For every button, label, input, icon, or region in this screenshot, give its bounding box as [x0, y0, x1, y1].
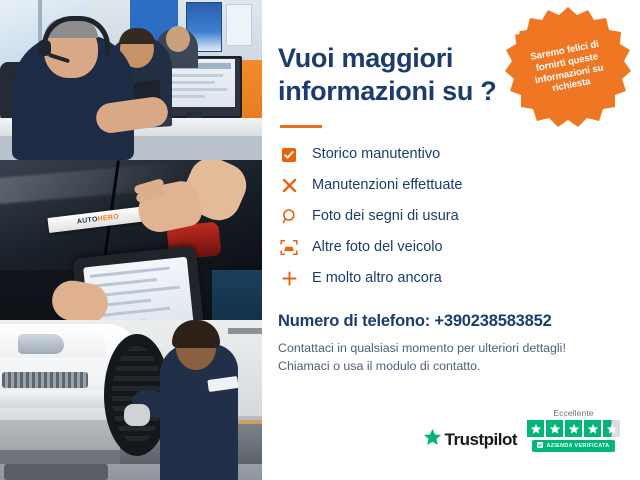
list-item-storico-manutentivo: Storico manutentivo — [278, 144, 616, 166]
trustpilot-rating-block: Eccellente AZIENDA VERIFICATA — [527, 408, 620, 452]
background-colleague-2-head — [166, 26, 190, 52]
info-banner: AUTOHERO — [0, 0, 640, 480]
page-title: Vuoi maggiori informazioni su ? — [278, 42, 518, 108]
list-item-label: Foto dei segni di usura — [312, 209, 459, 225]
list-item-molto-altro-ancora: E molto altro ancora — [278, 268, 616, 290]
car-frame-icon — [278, 237, 300, 259]
workshop-photo — [0, 320, 262, 480]
vehicle-lift-arm — [0, 450, 120, 464]
star-filled — [565, 420, 582, 437]
tablet-row — [90, 267, 170, 278]
contact-note-line-2: Chiamaci o usa il modulo di contatto. — [278, 359, 481, 373]
list-item-label: Altre foto del veicolo — [312, 240, 443, 256]
tablet-row — [91, 278, 157, 288]
phone-line: Numero di telefono: +390238583852 — [278, 312, 616, 331]
car-headlight — [18, 334, 64, 354]
star-filled — [527, 420, 544, 437]
contact-note: Contattaci in qualsiasi momento per ulte… — [278, 340, 616, 376]
contact-note-line-1: Contattaci in qualsiasi momento per ulte… — [278, 341, 566, 355]
status-badge: AZIENDA VERIFICATA — [532, 440, 614, 452]
mechanic-glove — [124, 404, 150, 426]
trustpilot-stars — [527, 420, 620, 437]
list-item-label: Storico manutentivo — [312, 147, 440, 163]
star-filled — [584, 420, 601, 437]
list-item-foto-segni-usura: Foto dei segni di usura — [278, 206, 616, 228]
ruler-brand-hero: HERO — [97, 213, 119, 223]
list-item-altre-foto-veicolo: Altre foto del veicolo — [278, 237, 616, 259]
star-half — [603, 420, 620, 437]
request-info-badge: Saremo felici di fornirti queste informa… — [505, 5, 631, 131]
tools-wrench-icon — [278, 175, 300, 197]
ruler-brand-auto: AUTO — [77, 216, 99, 225]
wall-notice — [226, 4, 252, 46]
phone-number[interactable]: +390238583852 — [434, 312, 551, 330]
vehicle-lift-base — [4, 464, 108, 480]
features-list: Storico manutentivo Manutenzioni effettu… — [278, 144, 616, 290]
star-filled — [546, 420, 563, 437]
trustpilot-widget[interactable]: Trustpilot Eccellente AZIENDA VERIFICATA — [423, 408, 620, 452]
car-grille — [2, 372, 88, 388]
wall-shelf — [228, 328, 262, 334]
call-center-photo — [0, 0, 262, 160]
verified-check-icon — [537, 442, 543, 450]
content-panel: Vuoi maggiori informazioni su ? Storico … — [262, 0, 640, 480]
phone-label: Numero di telefono: — [278, 312, 434, 330]
photo-column: AUTOHERO — [0, 0, 262, 480]
title-underline-divider — [280, 125, 322, 128]
starburst-shape — [505, 5, 631, 131]
checkbox-checked-icon — [278, 144, 300, 166]
magnifier-icon — [278, 206, 300, 228]
plus-icon — [278, 268, 300, 290]
vehicle-inspection-photo: AUTOHERO — [0, 160, 262, 320]
verified-label: AZIENDA VERIFICATA — [546, 443, 609, 449]
trustpilot-star-icon — [423, 428, 442, 452]
list-item-label: E molto altro ancora — [312, 271, 442, 287]
trustpilot-brand: Trustpilot — [445, 430, 517, 450]
trustpilot-rating-label: Eccellente — [553, 408, 593, 418]
list-item-manutenzioni-effettuate: Manutenzioni effettuate — [278, 175, 616, 197]
trustpilot-logo: Trustpilot — [423, 428, 517, 452]
car-bumper — [0, 390, 114, 408]
list-item-label: Manutenzioni effettuate — [312, 178, 462, 194]
